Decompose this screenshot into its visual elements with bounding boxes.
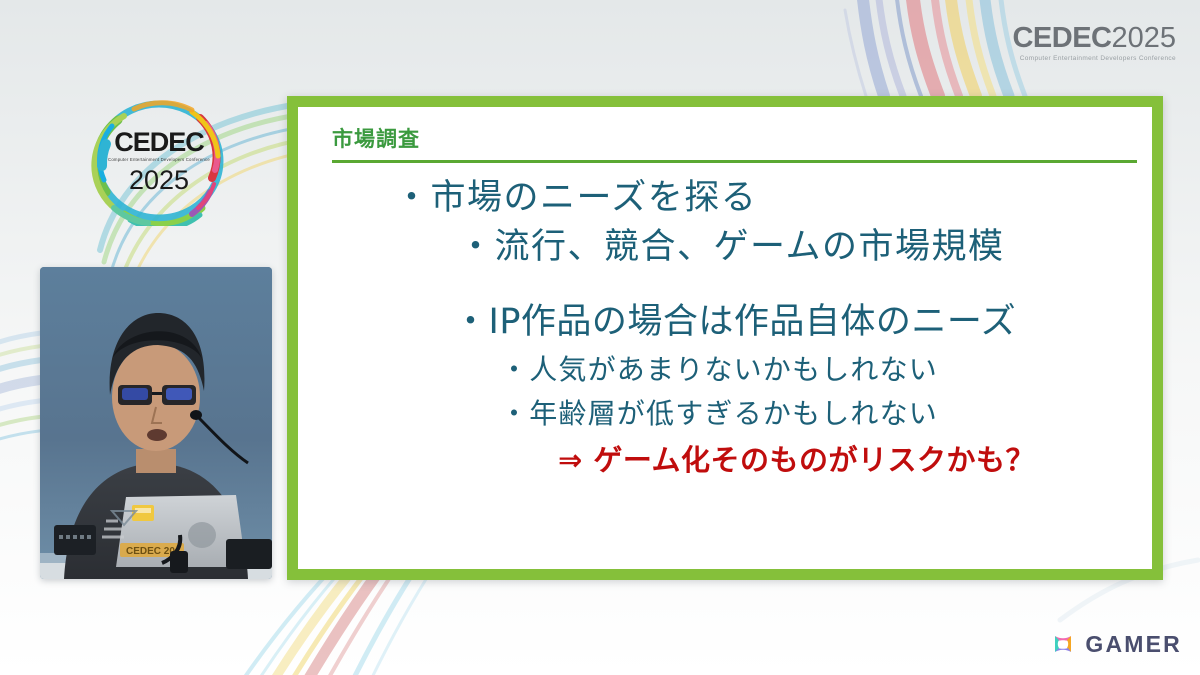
speaker-camera-feed: CEDEC 20 <box>40 267 272 579</box>
svg-text:CEDEC 20: CEDEC 20 <box>126 546 175 557</box>
cedec-header-subtitle: Computer Entertainment Developers Confer… <box>1012 56 1176 63</box>
cedec-ring-year: 2025 <box>88 167 230 194</box>
slide-conclusion: ⇒ ゲーム化そのものがリスクかも？ <box>298 446 1152 475</box>
presentation-slide: 市場調査 ・市場のニーズを探る ・流行、競合、ゲームの市場規模 ・IP作品の場合… <box>287 96 1163 580</box>
gamer-wordmark: GAMER <box>1085 633 1182 656</box>
cedec-wordmark: CEDEC2025 <box>1012 24 1176 53</box>
cedec-wordmark-year: 2025 <box>1111 22 1176 54</box>
slide-title-rule <box>332 160 1137 163</box>
cedec-ring-subtitle: Computer Entertainment Developers Confer… <box>88 158 230 162</box>
slide-bullet: ・流行、競合、ゲームの市場規模 <box>298 230 1152 265</box>
cedec-header-logo: CEDEC2025 Computer Entertainment Develop… <box>1012 24 1176 63</box>
slide-bullet: ・IP作品の場合は作品自体のニーズ <box>298 305 1152 340</box>
slide-bullet: ・年齢層が低すぎるかもしれない <box>298 400 1152 428</box>
gamer-watermark: GAMER <box>1050 631 1182 657</box>
broadcast-stage: CEDEC2025 Computer Entertainment Develop… <box>0 0 1200 675</box>
cedec-ring-name: CEDEC <box>88 129 230 156</box>
slide-body: ・市場のニーズを探る ・流行、競合、ゲームの市場規模 ・IP作品の場合は作品自体… <box>298 169 1152 475</box>
cedec-ring-logo: CEDEC Computer Entertainment Developers … <box>88 96 230 226</box>
cedec-wordmark-bold: CEDEC <box>1012 22 1111 54</box>
slide-bullet: ・人気があまりないかもしれない <box>298 356 1152 384</box>
slide-title: 市場調査 <box>332 123 420 153</box>
slide-bullet: ・市場のニーズを探る <box>298 181 1152 216</box>
cedec-ring-label: CEDEC Computer Entertainment Developers … <box>88 129 230 194</box>
slide-page: 市場調査 ・市場のニーズを探る ・流行、競合、ゲームの市場規模 ・IP作品の場合… <box>298 107 1152 569</box>
speaker-frame: CEDEC 20 <box>40 267 272 579</box>
gamer-diamond-icon <box>1050 631 1076 657</box>
